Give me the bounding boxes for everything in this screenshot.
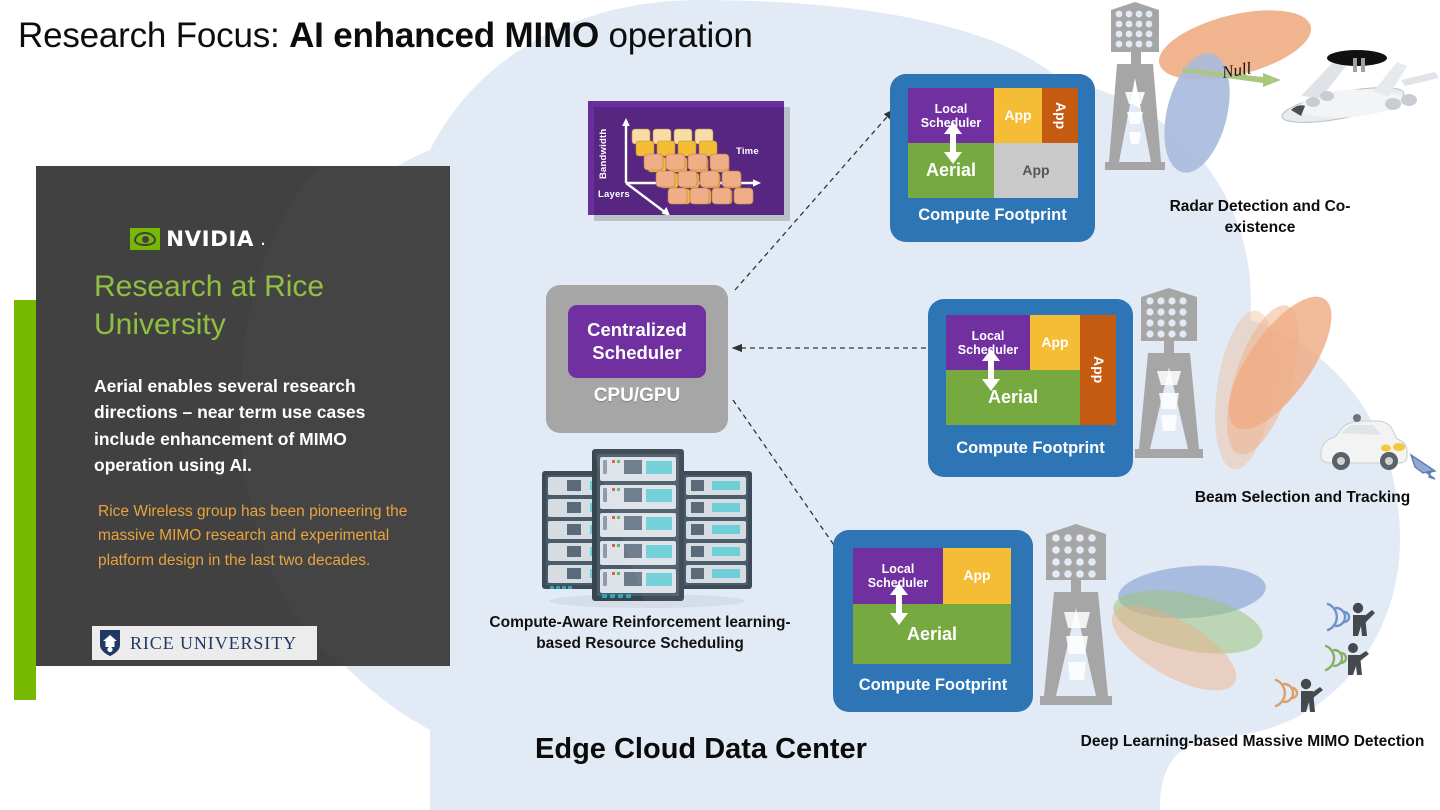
- title-emphasis: AI enhanced MIMO: [289, 16, 599, 55]
- pedestrian-middle: [1326, 643, 1369, 675]
- pedestrian-top: [1328, 603, 1375, 636]
- card-note-text: Rice Wireless group has been pioneering …: [98, 500, 418, 573]
- local-scheduler-cell: Local Scheduler: [908, 88, 994, 143]
- green-accent-bar: [14, 300, 36, 700]
- app-cell-orange: App: [1042, 88, 1078, 143]
- scene-caption-beam: Beam Selection and Tracking: [1165, 487, 1440, 508]
- car-icon: [1321, 414, 1407, 470]
- nvidia-eye-icon: [130, 228, 160, 250]
- scene-caption-mimo: Deep Learning-based Massive MIMO Detecti…: [1065, 731, 1440, 752]
- nvidia-research-card: NVIDIA . Research at Rice University Aer…: [36, 166, 450, 666]
- server-rack-illustration: [534, 443, 760, 609]
- resource-grid-y-axis-label: Bandwidth: [598, 129, 609, 179]
- resource-grid-diagram: Bandwidth Time Layers: [588, 101, 784, 215]
- radar-detection-scene: Null: [1105, 0, 1440, 190]
- footprint-caption-bottom: Compute Footprint: [833, 676, 1033, 695]
- app-cell-yellow: App: [994, 88, 1042, 143]
- direction-arrow-icon: [1411, 455, 1435, 479]
- card-body-text: Aerial enables several research directio…: [94, 373, 419, 478]
- aerial-cell: Aerial: [946, 370, 1080, 425]
- footprint-caption-top: Compute Footprint: [890, 206, 1095, 225]
- mimo-detection-scene: [1040, 520, 1440, 735]
- scene-caption-radar: Radar Detection and Co-existence: [1140, 196, 1380, 238]
- nvidia-logo-dot: .: [260, 227, 266, 251]
- rice-university-text: RICE UNIVERSITY: [130, 633, 297, 654]
- cpu-gpu-box: Centralized Scheduler CPU/GPU: [546, 285, 728, 433]
- nvidia-logo: NVIDIA .: [130, 227, 266, 251]
- pedestrian-bottom: [1276, 679, 1323, 712]
- footprint-caption-middle: Compute Footprint: [928, 439, 1133, 458]
- edge-cloud-title: Edge Cloud Data Center: [476, 733, 926, 766]
- app-cell-orange: App: [1080, 315, 1116, 425]
- resource-grid-z-axis-label: Layers: [598, 189, 630, 200]
- beam-selection-scene: [1135, 285, 1440, 480]
- local-scheduler-cell: Local Scheduler: [853, 548, 943, 604]
- title-suffix: operation: [599, 16, 753, 55]
- app-cell-yellow: App: [1030, 315, 1080, 370]
- app-cell-gray: App: [994, 143, 1078, 198]
- rice-shield-icon: [98, 629, 122, 657]
- page-title: Research Focus: AI enhanced MIMO operati…: [18, 16, 753, 56]
- centralized-scheduler-block: Centralized Scheduler: [568, 305, 706, 378]
- cell-tower-icon: [1105, 2, 1165, 170]
- aerial-cell: Aerial: [853, 604, 1011, 664]
- rack-caption: Compute-Aware Reinforcement learning-bas…: [480, 612, 800, 654]
- resource-grid-x-axis-label: Time: [736, 146, 759, 157]
- card-heading: Research at Rice University: [94, 268, 424, 344]
- aircraft-icon: [1280, 50, 1439, 130]
- aerial-cell: Aerial: [908, 143, 994, 198]
- cpu-gpu-label: CPU/GPU: [546, 385, 728, 407]
- local-scheduler-cell: Local Scheduler: [946, 315, 1030, 370]
- app-cell-yellow: App: [943, 548, 1011, 604]
- rice-university-logo: RICE UNIVERSITY: [92, 626, 317, 660]
- compute-footprint-middle: Local Scheduler App App Aerial Compute F…: [928, 299, 1133, 477]
- compute-footprint-top: Local Scheduler App App Aerial App Compu…: [890, 74, 1095, 242]
- compute-footprint-bottom: Local Scheduler App Aerial Compute Footp…: [833, 530, 1033, 712]
- title-prefix: Research Focus:: [18, 16, 289, 55]
- slide-canvas: Research Focus: AI enhanced MIMO operati…: [0, 0, 1440, 810]
- nvidia-wordmark: NVIDIA: [166, 227, 254, 251]
